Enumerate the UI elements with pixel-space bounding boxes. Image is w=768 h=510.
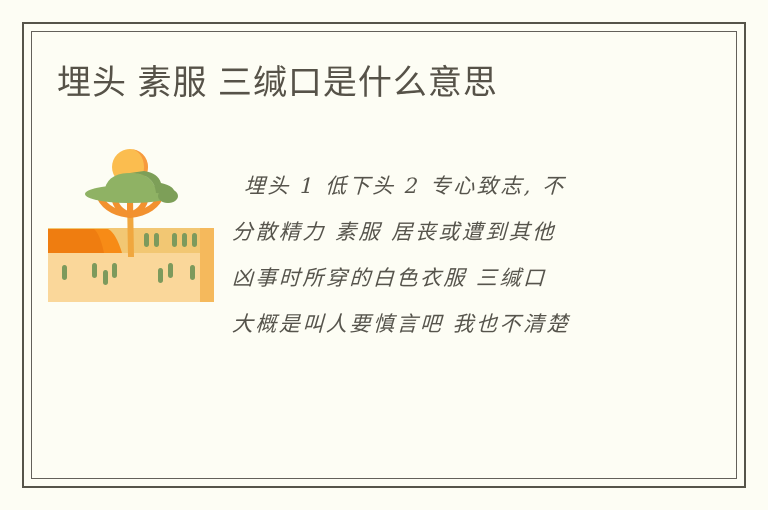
ground-right-strip xyxy=(200,228,214,302)
article-card: 埋头 素服 三缄口是什么意思 xyxy=(0,0,768,510)
page-title: 埋头 素服 三缄口是什么意思 xyxy=(57,63,498,104)
savanna-tree-illustration xyxy=(48,137,214,302)
definition-line-2: 分散精力 素服 居丧或遭到其他 xyxy=(231,209,663,255)
hill-orange-shadow xyxy=(48,229,104,253)
definition-line-4: 大概是叫人要慎言吧 我也不清楚 xyxy=(231,301,663,347)
definition-text-block: 埋头 1 低下头 2 专心致志, 不 分散精力 素服 居丧或遭到其他 凶事时所穿… xyxy=(232,163,662,347)
savanna-scene-svg xyxy=(48,137,214,302)
ground-lower-band xyxy=(48,253,214,302)
definition-line-3: 凶事时所穿的白色衣服 三缄口 xyxy=(231,255,663,301)
definition-line-1: 埋头 1 低下头 2 专心致志, 不 xyxy=(231,163,663,209)
tree-canopy xyxy=(85,171,178,203)
